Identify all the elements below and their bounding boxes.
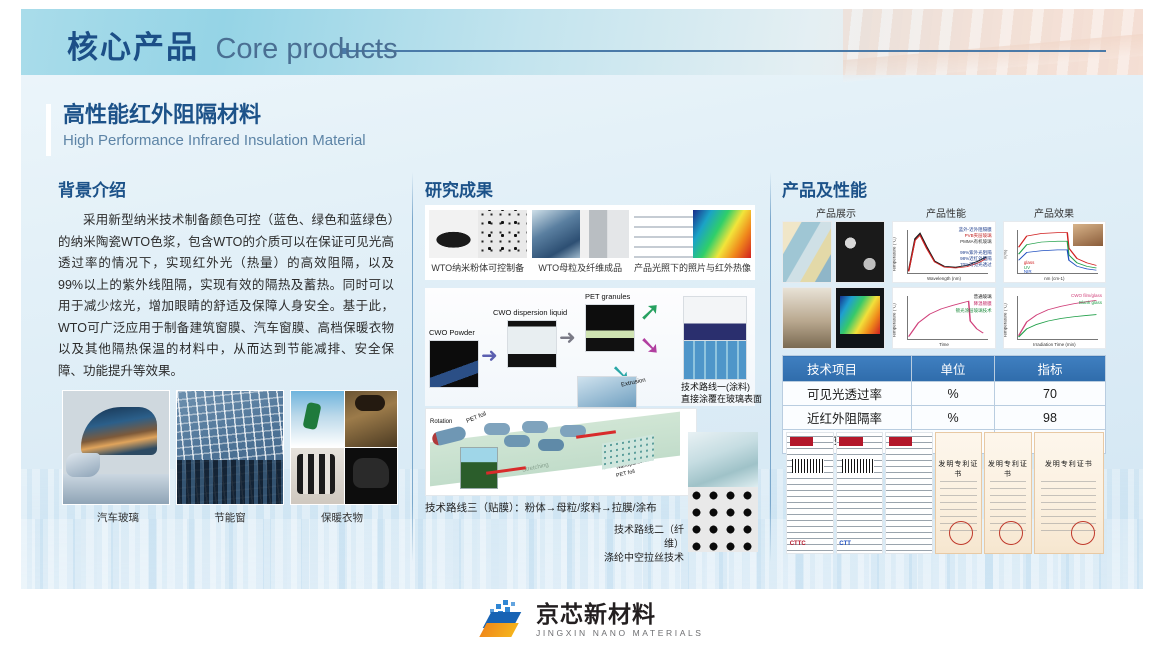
section-title-cn: 高性能红外阻隔材料	[63, 100, 366, 130]
caption-car-glass: 汽车玻璃	[62, 510, 174, 525]
research-card-row: WTO纳米粉体可控制备 WTO母粒及纤维成品 产品光照下的照片与红外热像	[425, 205, 755, 280]
chart1-xlabel: Wavelength (nm)	[893, 276, 994, 281]
img-vials	[683, 296, 747, 342]
section-divider-rule	[348, 50, 1106, 52]
report-brand-1: CTTC	[790, 541, 806, 547]
company-logo: 京芯新材料 JINGXIN NANO MATERIALS	[481, 600, 704, 640]
caption-warm-clothing: 保暖衣物	[286, 510, 398, 525]
slide: 核心产品 Core products 高性能红外阻隔材料 High Perfor…	[0, 0, 1164, 657]
chart4-ylabel: Temperature (°C)	[1003, 303, 1008, 338]
logo-mark-icon	[481, 600, 527, 640]
chart1-ylabel: Temperature (°C)	[892, 237, 897, 272]
colonnade-watermark	[843, 9, 1143, 75]
certificates-row: CTTC CTT 发明专利证书 发明专利证书 发明专利证书	[786, 432, 1104, 554]
route2-line1: 技术路线二（纤维）	[600, 524, 684, 552]
product-column: 产品及性能	[782, 176, 1106, 201]
car-glass-image	[62, 390, 170, 505]
route3-label: 技术路线三（贴膜）：粉体→母粒/浆料→拉膜/涂布	[425, 500, 657, 515]
product-heading: 产品及性能	[782, 176, 1106, 201]
research-card-thermal-caption: 产品光照下的照片与红外热像	[634, 261, 751, 274]
chart2-ylabel: Temperature (°C)	[892, 303, 897, 338]
background-column: 背景介绍 采用新型纳米技术制备颜色可控（蓝色、绿色和蓝绿色）的纳米陶瓷WTO色浆…	[58, 176, 394, 382]
row2-value: 98	[995, 406, 1106, 430]
patent-certificate-1: 发明专利证书	[935, 432, 983, 554]
test-report-1: CTTC	[786, 432, 834, 554]
chart2-legend-1: 普通玻璃	[974, 294, 992, 300]
research-card-powder-caption: WTO纳米粉体可控制备	[431, 261, 524, 274]
img-coating-test	[683, 340, 747, 380]
chart2-legend-3: 镀光涂层玻璃技术	[956, 308, 992, 314]
chart2-legend-2: 降温镀膜	[974, 301, 992, 307]
row1-item: 可见光透过率	[783, 382, 912, 406]
chart1-legend-3: PMMA有机玻璃	[960, 239, 992, 245]
research-column: 研究成果	[425, 176, 763, 201]
chart3-inset-photo	[1073, 224, 1103, 246]
logo-name-cn: 京芯新材料	[536, 602, 704, 627]
header-title-cn: 核心产品	[67, 30, 199, 65]
column-divider-right	[770, 172, 771, 562]
label-cwo-powder: CWO Powder	[429, 328, 475, 337]
subhead-effect: 产品效果	[1002, 205, 1106, 220]
label-pet-granules: PET granules	[585, 292, 630, 301]
label-dispersion: CWO dispersion liquid	[493, 308, 567, 317]
route2-label: 技术路线二（纤维） 涤纶中空拉丝技术	[600, 524, 684, 566]
chart4-legend-2: Blank glass	[1079, 300, 1102, 306]
table-row: 近红外阻隔率 % 98	[783, 406, 1106, 430]
application-image-row	[62, 390, 398, 505]
label-rotation: Rotation	[430, 419, 452, 425]
subhead-display: 产品展示	[782, 205, 890, 220]
column-divider-left	[412, 172, 413, 562]
film-process-diagram: Rotation PET foil Stretching Nanoparticl…	[425, 408, 697, 496]
logo-name-en: JINGXIN NANO MATERIALS	[536, 627, 704, 639]
background-heading: 背景介绍	[58, 176, 394, 201]
fiber-product-image	[688, 432, 758, 552]
chart1-note-3: 70%可见光透过	[960, 262, 992, 268]
product-thermal-camera	[835, 287, 885, 349]
chart-spectrum: glass UV NIR T(%) nm (cm-1)	[1003, 221, 1106, 283]
product-subheading-row: 产品展示 产品性能 产品效果	[782, 205, 1106, 220]
subhead-performance: 产品性能	[890, 205, 1002, 220]
research-heading: 研究成果	[425, 176, 763, 201]
section-title-block: 高性能红外阻隔材料 High Performance Infrared Insu…	[46, 100, 366, 152]
section-title-en: High Performance Infrared Insulation Mat…	[63, 130, 366, 152]
img-cwo-powder	[429, 340, 479, 388]
th-value: 指标	[995, 356, 1106, 382]
patent-title-3: 发明专利证书	[1035, 459, 1103, 469]
th-unit: 单位	[912, 356, 995, 382]
img-pet-granules	[585, 304, 635, 352]
row2-item: 近红外阻隔率	[783, 406, 912, 430]
product-image-grid: 蓝外-近外阻隔膜 PVB夹层玻璃 PMMA有机玻璃 99%紫外光阻隔 98%近红…	[782, 221, 1106, 349]
warm-clothing-image	[290, 390, 398, 505]
process-flow-diagram: CWO Powder ➜ CWO dispersion liquid ➜ PET…	[425, 288, 755, 406]
table-row: 可见光透过率 % 70	[783, 382, 1106, 406]
header-title-group: 核心产品 Core products	[67, 22, 398, 67]
chart-irradiation: CWO film/glass Blank glass Temperature (…	[1003, 287, 1106, 349]
table-header-row: 技术项目 单位 指标	[783, 356, 1106, 382]
caption-energy-window: 节能窗	[174, 510, 286, 525]
test-report-3	[885, 432, 933, 554]
report-brand-2: CTT	[839, 541, 851, 547]
patent-certificate-2: 发明专利证书	[984, 432, 1032, 554]
row2-unit: %	[912, 406, 995, 430]
patent-seal-2	[999, 521, 1023, 545]
patent-seal-3	[1071, 521, 1095, 545]
th-item: 技术项目	[783, 356, 912, 382]
product-fabric-samples	[835, 221, 885, 283]
research-card-masterbatch: WTO母粒及纤维成品	[532, 210, 630, 275]
header-title-en: Core products	[215, 33, 397, 65]
route1-line2: 直接涂覆在玻璃表面	[681, 392, 762, 405]
research-card-thermal: 产品光照下的照片与红外热像	[634, 210, 751, 275]
chart4-legend-1: CWO film/glass	[1071, 293, 1102, 299]
chart4-xlabel: Irradiation Time (min)	[1004, 342, 1105, 347]
application-caption-row: 汽车玻璃 节能窗 保暖衣物	[62, 510, 398, 525]
product-demo-room	[782, 287, 832, 349]
energy-window-image	[176, 390, 284, 505]
img-dispersion	[507, 320, 557, 368]
arrow-route1b: ➘	[639, 332, 661, 358]
chart3-xlabel: nm (cm-1)	[1004, 276, 1105, 281]
label-pet-foil-1: PET foil	[466, 411, 488, 424]
research-card-powder: WTO纳米粉体可控制备	[429, 210, 527, 275]
chart3-ylabel: T(%)	[1003, 250, 1008, 260]
arrow-2: ➜	[559, 328, 576, 348]
chart-transmittance: 蓝外-近外阻隔膜 PVB夹层玻璃 PMMA有机玻璃 99%紫外光阻隔 98%近红…	[892, 221, 995, 283]
patent-seal-1	[949, 521, 973, 545]
chart-temperature-curve: 普通玻璃 降温镀膜 镀光涂层玻璃技术 Temperature (°C) Time	[892, 287, 995, 349]
background-body-text: 采用新型纳米技术制备颜色可控（蓝色、绿色和蓝绿色）的纳米陶瓷WTO色浆，包含WT…	[58, 210, 394, 382]
research-card-masterbatch-caption: WTO母粒及纤维成品	[538, 261, 622, 274]
row1-unit: %	[912, 382, 995, 406]
slide-header: 核心产品 Core products	[21, 9, 1143, 75]
chart3-legend-3: NIR	[1024, 269, 1032, 275]
test-report-2: CTT	[836, 432, 884, 554]
patent-certificate-3: 发明专利证书	[1034, 432, 1104, 554]
section-accent-bar	[46, 104, 51, 156]
arrow-route1: ➚	[639, 298, 661, 324]
row1-value: 70	[995, 382, 1106, 406]
product-glass-samples	[782, 221, 832, 283]
route2-line2: 涤纶中空拉丝技术	[600, 552, 684, 566]
logo-text-group: 京芯新材料 JINGXIN NANO MATERIALS	[536, 602, 704, 639]
chart2-xlabel: Time	[893, 342, 994, 347]
arrow-1: ➜	[481, 346, 498, 366]
